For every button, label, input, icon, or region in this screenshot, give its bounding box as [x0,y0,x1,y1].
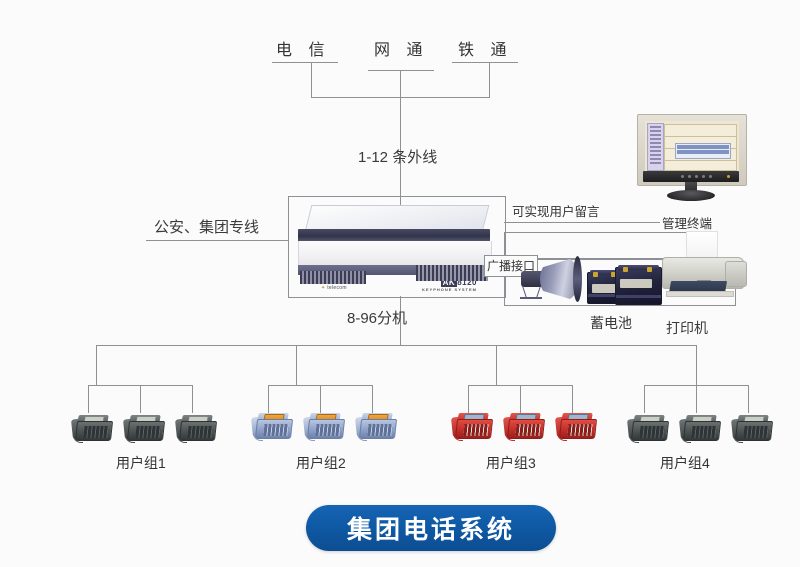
user-group-label-3: 用户组3 [486,453,536,473]
printer-device [662,245,746,307]
management-terminal-label: 管理终端 [662,213,712,232]
phone-2b [304,411,344,439]
pbx-front-face: ✦ telecom AK8120 KEYPHONE SYSTEM [298,241,492,266]
battery-terminal-2a [623,267,628,272]
battery-stripe-2 [616,295,661,298]
screen-sidebar [647,123,664,171]
dedicated-line-label: 公安、集团专线 [154,216,259,237]
management-terminal-line [504,222,660,223]
extension-label: 8-96分机 [347,307,407,328]
pbx-device: ✦ telecom AK8120 KEYPHONE SYSTEM [296,205,492,287]
carrier-label-netcom: 网 通 [374,36,428,60]
phone-drop-1b [140,385,141,413]
diagram-canvas: 电 信 网 通 铁 通 1-12 条外线 ✦ telecom AK8120 KE… [0,0,800,567]
phone-1c [176,413,216,441]
phone-drop-1a [88,385,89,413]
pbx-brand-logo: ✦ telecom [321,285,347,291]
carrier-label-railcom: 铁 通 [458,36,512,60]
carrier-label-telecom: 电 信 [276,36,330,60]
monitor-screen [645,121,739,171]
phone-drop-4c [748,385,749,413]
phone-drop-2c [372,385,373,413]
horn-rim [573,256,582,302]
carrier-drop-telecom [311,62,312,97]
trunk-label: 1-12 条外线 [358,146,437,167]
group-drop-1 [96,345,97,385]
screen-dialog [675,143,731,159]
phone-3a [452,411,492,439]
screen-row-4 [664,160,737,171]
title-banner-text: 集团电话系统 [347,510,515,546]
title-banner: 集团电话系统 [306,505,556,551]
phone-1a [72,413,112,441]
user-group-label-4: 用户组4 [660,453,710,473]
phone-drop-2a [268,385,269,413]
phone-3c [556,411,596,439]
battery-label-2 [620,279,652,288]
storage-battery-label: 蓄电池 [590,313,632,333]
phone-4a [628,413,668,441]
phone-2a [252,411,292,439]
management-terminal-monitor [637,114,745,202]
horn-foot [520,297,542,299]
phone-drop-1c [192,385,193,413]
pbx-top-panel [305,205,490,232]
phone-drop-2b [320,385,321,413]
storage-battery-group [587,263,661,307]
user-group-label-1: 用户组1 [116,453,166,473]
battery-label-1 [592,284,616,293]
phone-drop-3a [468,385,469,413]
battery-unit-2 [615,267,662,305]
phone-4b [680,413,720,441]
monitor-base [667,190,715,201]
battery-terminal-2b [647,267,652,272]
battery-terminal-1a [593,272,598,277]
phone-drop-4b [696,385,697,413]
phone-2c [356,411,396,439]
phone-drop-3b [520,385,521,413]
printer-right-cap [725,261,747,287]
extension-bus [96,345,696,346]
phone-3b [504,411,544,439]
group-drop-3 [496,345,497,385]
dedicated-line-connector [146,240,288,241]
printer-shelf [666,291,734,297]
group-drop-2 [296,345,297,385]
carrier-underline-railcom [452,62,518,63]
phone-1b [124,413,164,441]
user-group-label-2: 用户组2 [296,453,346,473]
carrier-drop-netcom [400,70,401,97]
pbx-vent-left [300,271,366,284]
phone-4c [732,413,772,441]
phone-drop-4a [644,385,645,413]
broadcast-horn-speaker [516,256,582,304]
group-drop-4 [696,345,697,385]
monitor-chin [643,171,739,182]
carrier-underline-telecom [272,62,338,63]
pbx-vent-right [416,265,488,281]
printer-label: 打印机 [666,318,708,338]
carrier-underline-netcom [368,70,434,71]
carrier-drop-railcom [489,62,490,97]
phone-drop-3c [572,385,573,413]
voicemail-note-label: 可实现用户留言 [512,201,600,220]
